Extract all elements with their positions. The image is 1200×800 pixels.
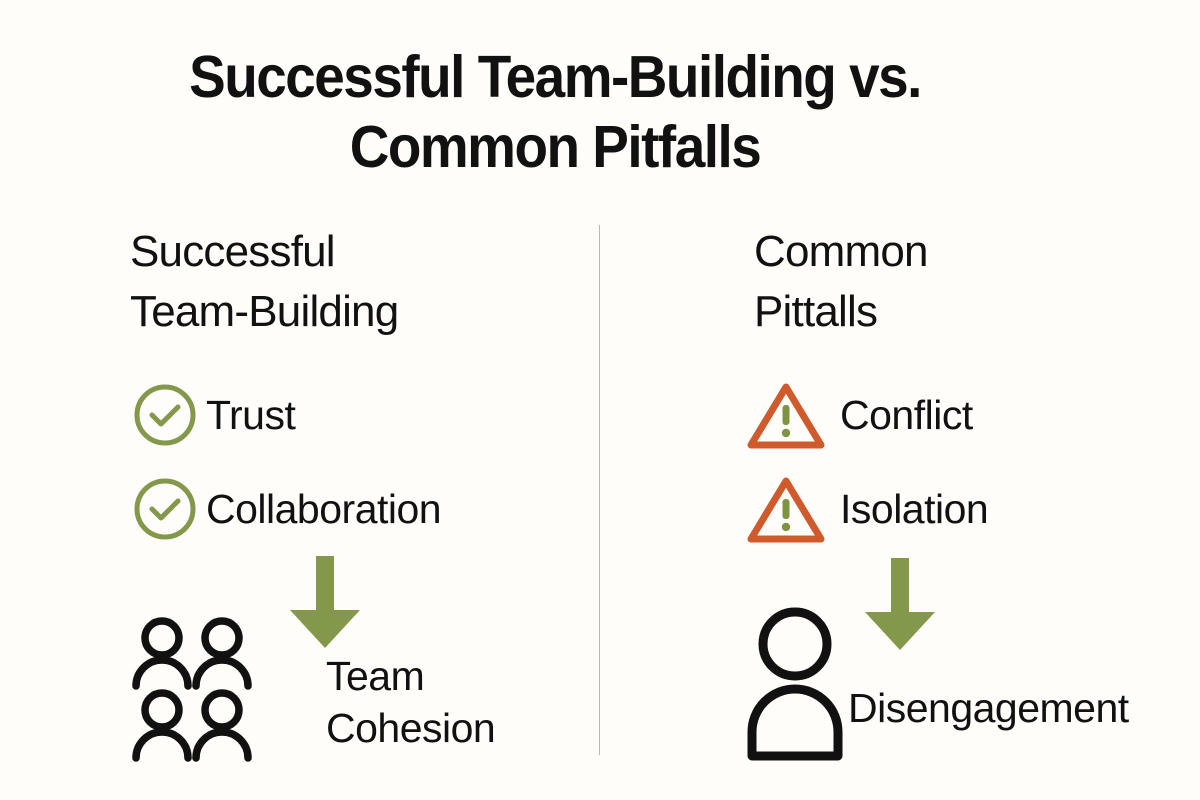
right-outcome-label: Disengagement — [848, 682, 1129, 734]
down-arrow-icon — [282, 552, 368, 657]
column-divider — [599, 225, 600, 755]
title-line-2: Common Pitfalls — [39, 112, 1071, 182]
warning-triangle-icon — [744, 473, 840, 545]
list-item: Collaboration — [132, 476, 441, 542]
list-item-label: Collaboration — [206, 486, 441, 532]
title-line-1: Successful Team-Building vs. — [39, 42, 1071, 112]
list-item-label: Trust — [206, 392, 295, 438]
single-person-icon — [742, 604, 852, 767]
warning-triangle-icon — [744, 379, 840, 451]
down-arrow-icon — [857, 554, 943, 659]
group-of-people-icon — [130, 614, 270, 767]
list-item: Isolation — [744, 476, 988, 542]
right-item-list: Conflict Isolation — [744, 382, 988, 570]
infographic-canvas: Successful Team-Building vs. Common Pitf… — [0, 0, 1200, 800]
left-heading-line-1: Successful — [130, 222, 570, 282]
left-outcome-label: Team Cohesion — [326, 650, 495, 754]
list-item: Conflict — [744, 382, 988, 448]
list-item: Trust — [132, 382, 441, 448]
page-title: Successful Team-Building vs. Common Pitf… — [0, 42, 1110, 182]
left-item-list: Trust Collaboration — [132, 382, 441, 570]
left-heading-line-2: Team-Building — [130, 282, 570, 342]
right-heading-line-1: Common — [754, 222, 1184, 282]
left-outcome-label-line-1: Team — [326, 650, 495, 702]
list-item-label: Conflict — [840, 392, 973, 438]
check-circle-icon — [132, 382, 206, 448]
right-outcome-label-line-1: Disengagement — [848, 682, 1129, 734]
left-outcome-label-line-2: Cohesion — [326, 702, 495, 754]
check-circle-icon — [132, 476, 206, 542]
right-column-header: Common Pittalls — [754, 222, 1184, 342]
left-column-header: Successful Team-Building — [130, 222, 570, 342]
right-heading-line-2: Pittalls — [754, 282, 1184, 342]
list-item-label: Isolation — [840, 486, 988, 532]
